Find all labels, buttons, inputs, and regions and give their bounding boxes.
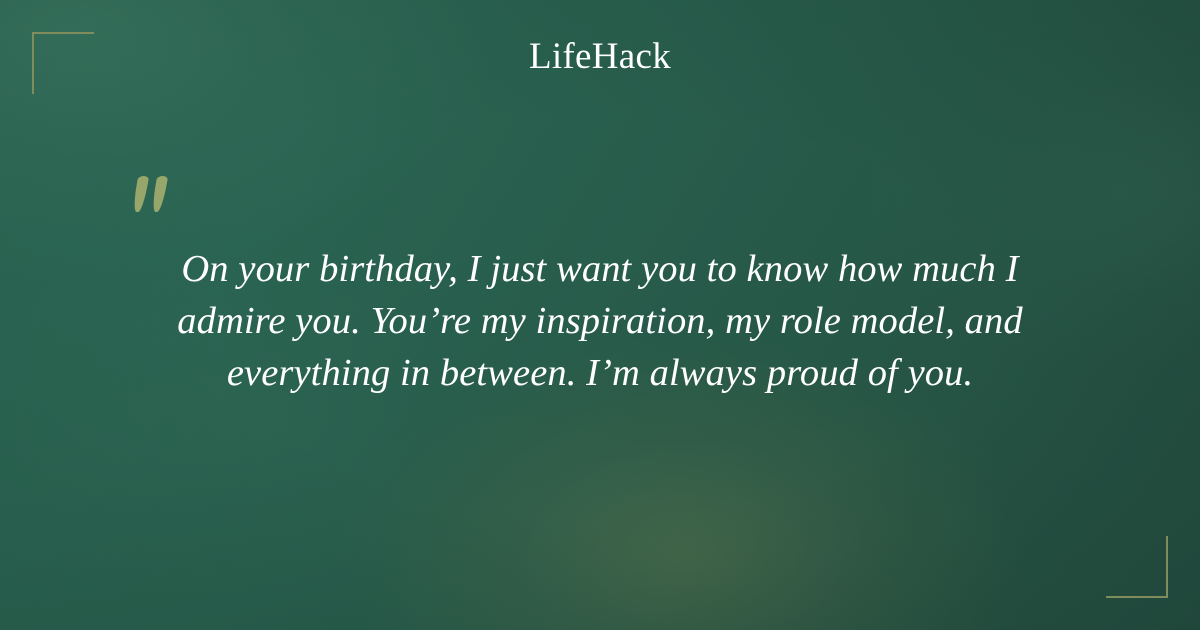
quote-card: LifeHack On your birthday, I just want y… [0,0,1200,630]
quote-line: everything in between. I’m always proud … [90,347,1110,399]
quote-line: On your birthday, I just want you to kno… [90,243,1110,295]
quote-line: admire you. You’re my inspiration, my ro… [90,295,1110,347]
brand-logo: LifeHack [0,38,1200,75]
corner-bracket-horizontal-rule [32,32,94,34]
quotation-mark-stroke-right [151,176,168,212]
quotation-mark-icon [133,176,179,218]
corner-bracket-bottom-right-icon [1106,536,1168,598]
corner-bracket-vertical-rule [1166,536,1168,598]
quote-block: On your birthday, I just want you to kno… [90,243,1110,399]
corner-bracket-horizontal-rule [1106,596,1168,598]
quotation-mark-stroke-left [132,176,149,212]
